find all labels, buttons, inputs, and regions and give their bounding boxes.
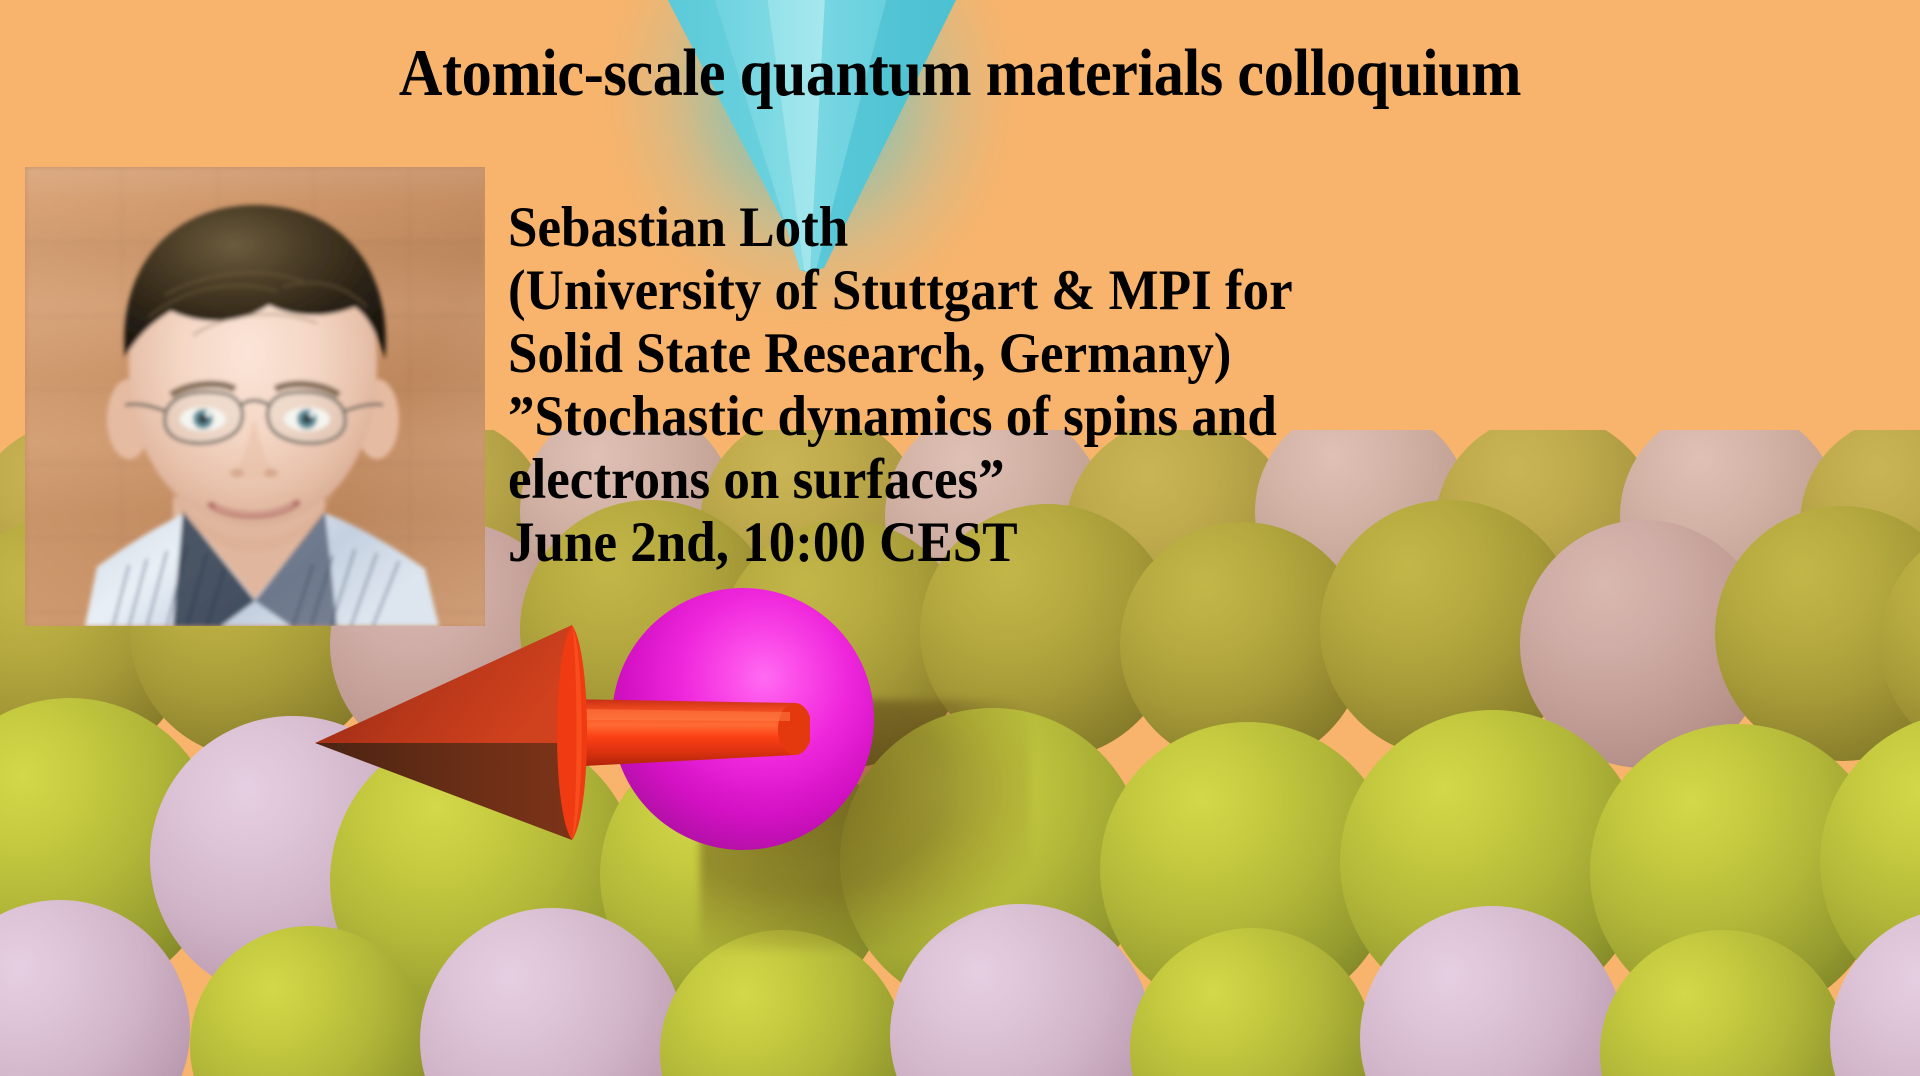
speaker-affiliation-2: Solid State Research, Germany): [508, 322, 1605, 385]
talk-title-1: ”Stochastic dynamics of spins and: [508, 385, 1605, 448]
slide-canvas: Atomic-scale quantum materials colloquiu…: [0, 0, 1920, 1076]
portrait-figure: [25, 167, 485, 626]
page-title: Atomic-scale quantum materials colloquiu…: [96, 40, 1824, 107]
speaker-name: Sebastian Loth: [508, 196, 1605, 259]
speaker-portrait: [25, 167, 485, 626]
red-spin-arrow: [290, 625, 810, 865]
talk-title-2: electrons on surfaces”: [508, 448, 1605, 511]
talk-datetime: June 2nd, 10:00 CEST: [508, 511, 1605, 574]
speaker-affiliation-1: (University of Stuttgart & MPI for: [508, 259, 1605, 322]
speaker-info-block: Sebastian Loth (University of Stuttgart …: [508, 196, 1688, 574]
